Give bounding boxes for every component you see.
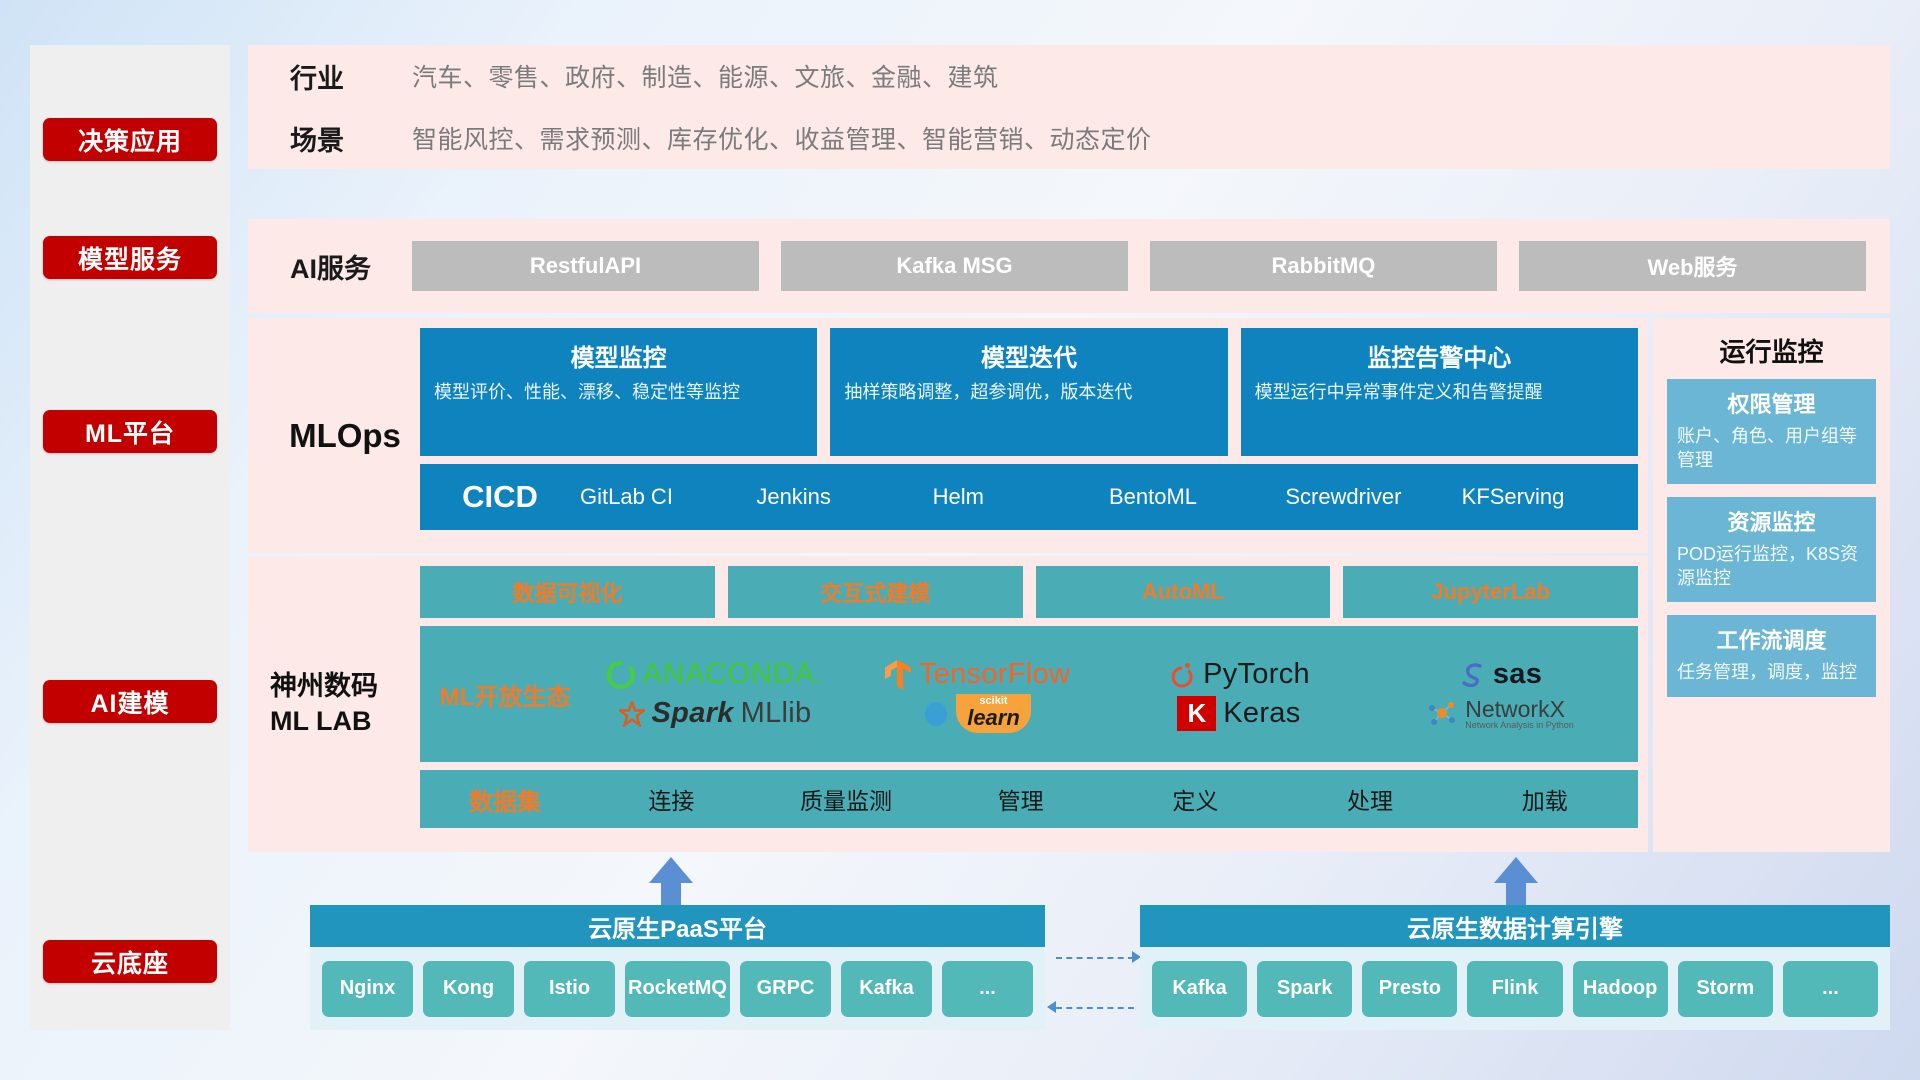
pytorch-logo: PyTorch [1108,658,1370,691]
tensorflow-logo: TensorFlow [846,658,1108,691]
ml-lab-label-line2: ML LAB [270,704,378,739]
engine-chip-storm[interactable]: Storm [1678,961,1773,1017]
anaconda-text: ANACONDA. [643,658,824,691]
mlops-card-model-iteration[interactable]: 模型迭代 抽样策略调整，超参调优，版本迭代 [830,328,1227,456]
cicd-label: CICD [420,479,580,515]
dataset-item-process[interactable]: 处理 [1283,782,1458,816]
paas-chip-nginx[interactable]: Nginx [322,961,413,1017]
mlops-card-alert-center[interactable]: 监控告警中心 模型运行中异常事件定义和告警提醒 [1241,328,1638,456]
ai-service-label: AI服务 [290,247,412,286]
learn-text: learn [967,707,1020,729]
paas-chip-grpc[interactable]: GRPC [740,961,831,1017]
engine-chip-flink[interactable]: Flink [1467,961,1562,1017]
card-title: 模型迭代 [844,338,1213,373]
mlops-label: MLOps [270,328,420,543]
card-desc: 抽样策略调整，超参调优，版本迭代 [844,380,1213,406]
service-chip-kafka-msg[interactable]: Kafka MSG [781,241,1128,291]
arrow-stem-paas [661,883,681,905]
stage-chip-label: 云底座 [91,944,169,980]
industry-value: 汽车、零售、政府、制造、能源、文旅、金融、建筑 [412,58,999,94]
lab-tab-jupyterlab[interactable]: JupyterLab [1343,566,1638,618]
card-title: 模型监控 [434,338,803,373]
dashed-connector-right [1056,957,1134,959]
cicd-item-jenkins[interactable]: Jenkins [756,483,932,511]
card-title: 资源监控 [1677,505,1866,537]
arrow-stem-data-engine [1506,883,1526,905]
cicd-item-gitlab-ci[interactable]: GitLab CI [580,483,756,511]
industry-row: 行业 汽车、零售、政府、制造、能源、文旅、金融、建筑 [248,45,1890,107]
spark-star-icon [619,701,645,727]
stage-chip-decision[interactable]: 决策应用 [43,118,217,161]
paas-chip-rocketmq[interactable]: RocketMQ [625,961,730,1017]
data-engine-title: 云原生数据计算引擎 [1140,905,1890,947]
networkx-tagline: Network Analysis in Python [1465,721,1574,730]
scenario-row: 场景 智能风控、需求预测、库存优化、收益管理、智能营销、动态定价 [248,107,1890,169]
scikit-learn-logo: scikit learn [846,694,1108,733]
anaconda-logo: ANACONDA. [584,658,846,691]
card-title: 权限管理 [1677,387,1866,419]
ml-ecosystem-bar: ML开放生态 ANACONDA. [420,626,1638,762]
paas-platform-block: 云原生PaaS平台 Nginx Kong Istio RocketMQ GRPC… [310,905,1045,1030]
applications-panel: 行业 汽车、零售、政府、制造、能源、文旅、金融、建筑 场景 智能风控、需求预测、… [248,45,1890,169]
pytorch-icon [1168,660,1196,690]
cicd-item-screwdriver[interactable]: Screwdriver [1285,483,1461,511]
data-engine-block: 云原生数据计算引擎 Kafka Spark Presto Flink Hadoo… [1140,905,1890,1030]
stage-chip-label: ML平台 [85,414,175,450]
card-desc: 任务管理，调度，监控 [1677,660,1866,684]
mlops-card-model-monitoring[interactable]: 模型监控 模型评价、性能、漂移、稳定性等监控 [420,328,817,456]
card-desc: 账户、角色、用户组等管理 [1677,424,1866,472]
service-chip-rabbitmq[interactable]: RabbitMQ [1150,241,1497,291]
service-chip-web-service[interactable]: Web服务 [1519,241,1866,291]
dataset-bar: 数据集 连接 质量监测 管理 定义 处理 加载 [420,770,1638,828]
paas-chip-kafka[interactable]: Kafka [841,961,932,1017]
ml-lab-panel: 神州数码 ML LAB 数据可视化 交互式建模 AutoML JupyterLa… [248,556,1648,852]
card-title: 监控告警中心 [1255,338,1624,373]
networkx-logo: NetworkX Network Analysis in Python [1370,698,1632,730]
dataset-label: 数据集 [426,782,584,817]
stage-chip-ai-modeling[interactable]: AI建模 [43,680,217,723]
scenario-label: 场景 [290,119,412,158]
sas-logo: sas [1370,658,1632,691]
sas-text: sas [1493,658,1542,691]
engine-chip-presto[interactable]: Presto [1362,961,1457,1017]
stage-chip-label: AI建模 [90,684,169,720]
monitoring-card-workflow[interactable]: 工作流调度 任务管理，调度，监控 [1667,615,1876,696]
tensorflow-text: TensorFlow [919,658,1070,691]
paas-chip-kong[interactable]: Kong [423,961,514,1017]
dataset-item-define[interactable]: 定义 [1108,782,1283,816]
ml-lab-label: 神州数码 ML LAB [270,566,420,842]
networkx-wordmark: NetworkX Network Analysis in Python [1465,698,1574,730]
monitoring-title: 运行监控 [1653,318,1890,379]
dataset-item-quality-monitor[interactable]: 质量监测 [759,782,934,816]
paas-platform-title: 云原生PaaS平台 [310,905,1045,947]
scikit-blob-icon [923,701,949,727]
dataset-item-load[interactable]: 加载 [1457,782,1632,816]
engine-chip-hadoop[interactable]: Hadoop [1573,961,1668,1017]
cicd-item-kfserving[interactable]: KFServing [1462,483,1638,511]
engine-chip-spark[interactable]: Spark [1257,961,1352,1017]
engine-chip-kafka[interactable]: Kafka [1152,961,1247,1017]
card-desc: 模型评价、性能、漂移、稳定性等监控 [434,380,803,406]
networkx-graph-icon [1428,700,1458,728]
monitoring-card-resource[interactable]: 资源监控 POD运行监控，K8S资源监控 [1667,497,1876,602]
dataset-item-connect[interactable]: 连接 [584,782,759,816]
paas-chip-more[interactable]: ... [942,961,1033,1017]
monitoring-panel: 运行监控 权限管理 账户、角色、用户组等管理 资源监控 POD运行监控，K8S资… [1653,318,1890,852]
arrow-up-paas [649,857,693,883]
dashed-arrow-head-left [1047,1001,1056,1013]
keras-logo: K Keras [1108,696,1370,731]
spark-text: Spark [652,697,734,730]
engine-chip-more[interactable]: ... [1783,961,1878,1017]
scikit-learn-badge: scikit learn [956,694,1031,733]
lab-tab-interactive-modeling[interactable]: 交互式建模 [728,566,1023,618]
mllib-text: MLlib [741,697,812,730]
service-chip-restfulapi[interactable]: RestfulAPI [412,241,759,291]
keras-text: Keras [1223,697,1300,730]
card-title: 工作流调度 [1677,623,1866,655]
stage-chip-cloud-base[interactable]: 云底座 [43,940,217,983]
arrow-up-data-engine [1494,857,1538,883]
mlops-panel: MLOps 模型监控 模型评价、性能、漂移、稳定性等监控 模型迭代 抽样策略调整… [248,318,1648,553]
stage-rail [30,45,230,1030]
dataset-item-manage[interactable]: 管理 [933,782,1108,816]
ml-lab-label-line1: 神州数码 [270,669,378,704]
dashed-connector-left [1056,1007,1134,1009]
cicd-bar: CICD GitLab CI Jenkins Helm BentoML Scre… [420,464,1638,530]
keras-k-icon: K [1177,696,1216,731]
card-desc: POD运行监控，K8S资源监控 [1677,542,1866,590]
cicd-item-bentoml[interactable]: BentoML [1109,483,1285,511]
sas-icon [1460,661,1486,689]
architecture-diagram: 决策应用 模型服务 ML平台 AI建模 云底座 行业 汽车、零售、政府、制造、能… [0,0,1920,1080]
ml-ecosystem-label: ML开放生态 [426,677,584,712]
monitoring-card-permission[interactable]: 权限管理 账户、角色、用户组等管理 [1667,379,1876,484]
pytorch-text: PyTorch [1203,658,1310,691]
scenario-value: 智能风控、需求预测、库存优化、收益管理、智能营销、动态定价 [412,120,1152,156]
lab-tab-automl[interactable]: AutoML [1036,566,1331,618]
spark-mllib-logo: Spark MLlib [584,697,846,730]
tensorflow-icon [884,659,912,691]
stage-chip-ml-platform[interactable]: ML平台 [43,410,217,453]
paas-chip-istio[interactable]: Istio [524,961,615,1017]
lab-tab-data-visualization[interactable]: 数据可视化 [420,566,715,618]
card-desc: 模型运行中异常事件定义和告警提醒 [1255,380,1624,406]
stage-chip-label: 决策应用 [78,122,182,158]
networkx-text: NetworkX [1465,698,1574,721]
cicd-item-helm[interactable]: Helm [933,483,1109,511]
anaconda-icon [606,660,636,690]
industry-label: 行业 [290,57,412,96]
stage-chip-label: 模型服务 [78,240,182,276]
ai-service-panel: AI服务 RestfulAPI Kafka MSG RabbitMQ Web服务 [248,219,1890,313]
stage-chip-model-service[interactable]: 模型服务 [43,236,217,279]
